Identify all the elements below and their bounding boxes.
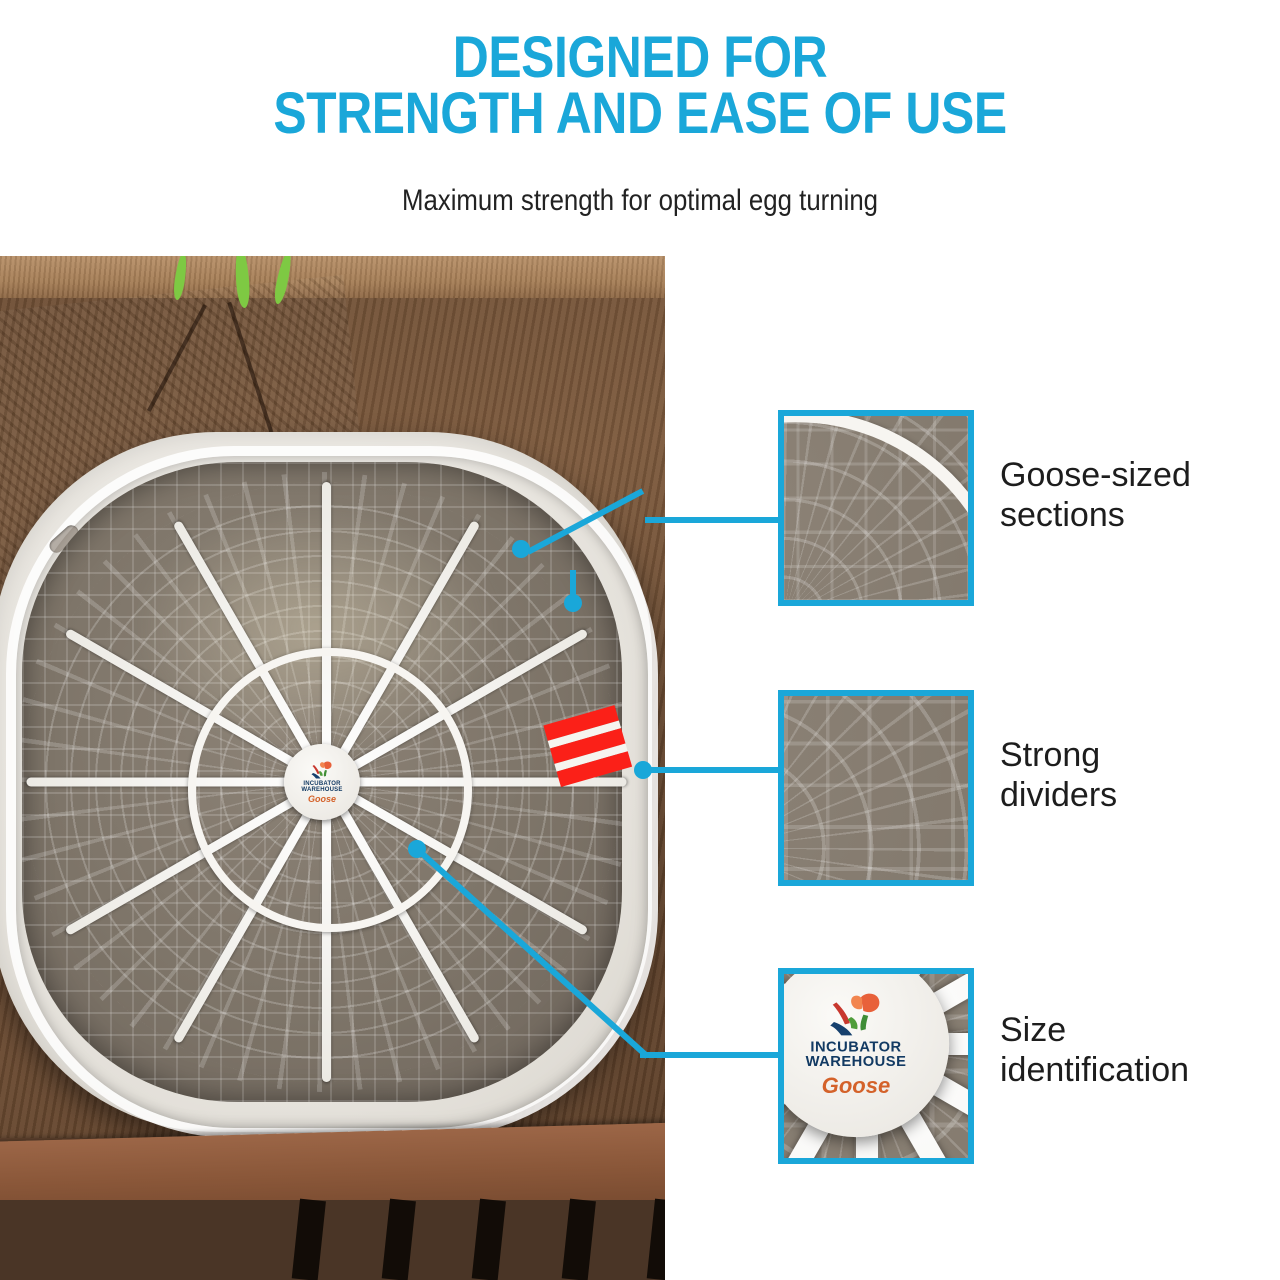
tulip-logo-icon xyxy=(824,990,888,1039)
callout-1-crop xyxy=(778,410,974,606)
callout-3-image[interactable]: INCUBATOR WAREHOUSE Goose xyxy=(778,968,974,1164)
brand-line-1: INCUBATOR xyxy=(810,1042,901,1057)
callout-3-label: Size identification xyxy=(1000,1010,1189,1090)
callout-1-anchor-dot-b xyxy=(564,594,582,612)
callout-3-crop: INCUBATOR WAREHOUSE Goose xyxy=(778,968,974,1164)
size-label: Goose xyxy=(308,794,336,804)
callout-1-image[interactable] xyxy=(778,410,974,606)
callout-1-connector-line xyxy=(645,517,785,523)
tray-inner-ring xyxy=(778,690,974,886)
tulip-logo-icon xyxy=(309,760,335,780)
callout-2-image[interactable] xyxy=(778,690,974,886)
brand-line-2: WAREHOUSE xyxy=(301,787,342,793)
page-headline: DESIGNED FOR STRENGTH AND EASE OF USE xyxy=(90,30,1191,142)
callout-2-anchor-dot xyxy=(634,761,652,779)
page-subhead: Maximum strength for optimal egg turning xyxy=(90,184,1191,218)
size-label: Goose xyxy=(822,1073,891,1098)
callout-1-anchor-dot-a xyxy=(512,540,530,558)
callout-2-label: Strong dividers xyxy=(1000,735,1117,815)
callout-1-label: Goose-sized sections xyxy=(1000,455,1191,535)
infographic-root: DESIGNED FOR STRENGTH AND EASE OF USE Ma… xyxy=(0,0,1280,1280)
product-photo: INCUBATOR WAREHOUSE Goose xyxy=(0,256,665,1280)
callout-3-connector-line xyxy=(640,1052,785,1058)
center-logo-sticker: INCUBATOR WAREHOUSE Goose xyxy=(284,744,360,820)
brand-line-2: WAREHOUSE xyxy=(806,1056,907,1071)
callout-2-crop xyxy=(778,690,974,886)
callout-2-connector-line xyxy=(645,767,785,773)
